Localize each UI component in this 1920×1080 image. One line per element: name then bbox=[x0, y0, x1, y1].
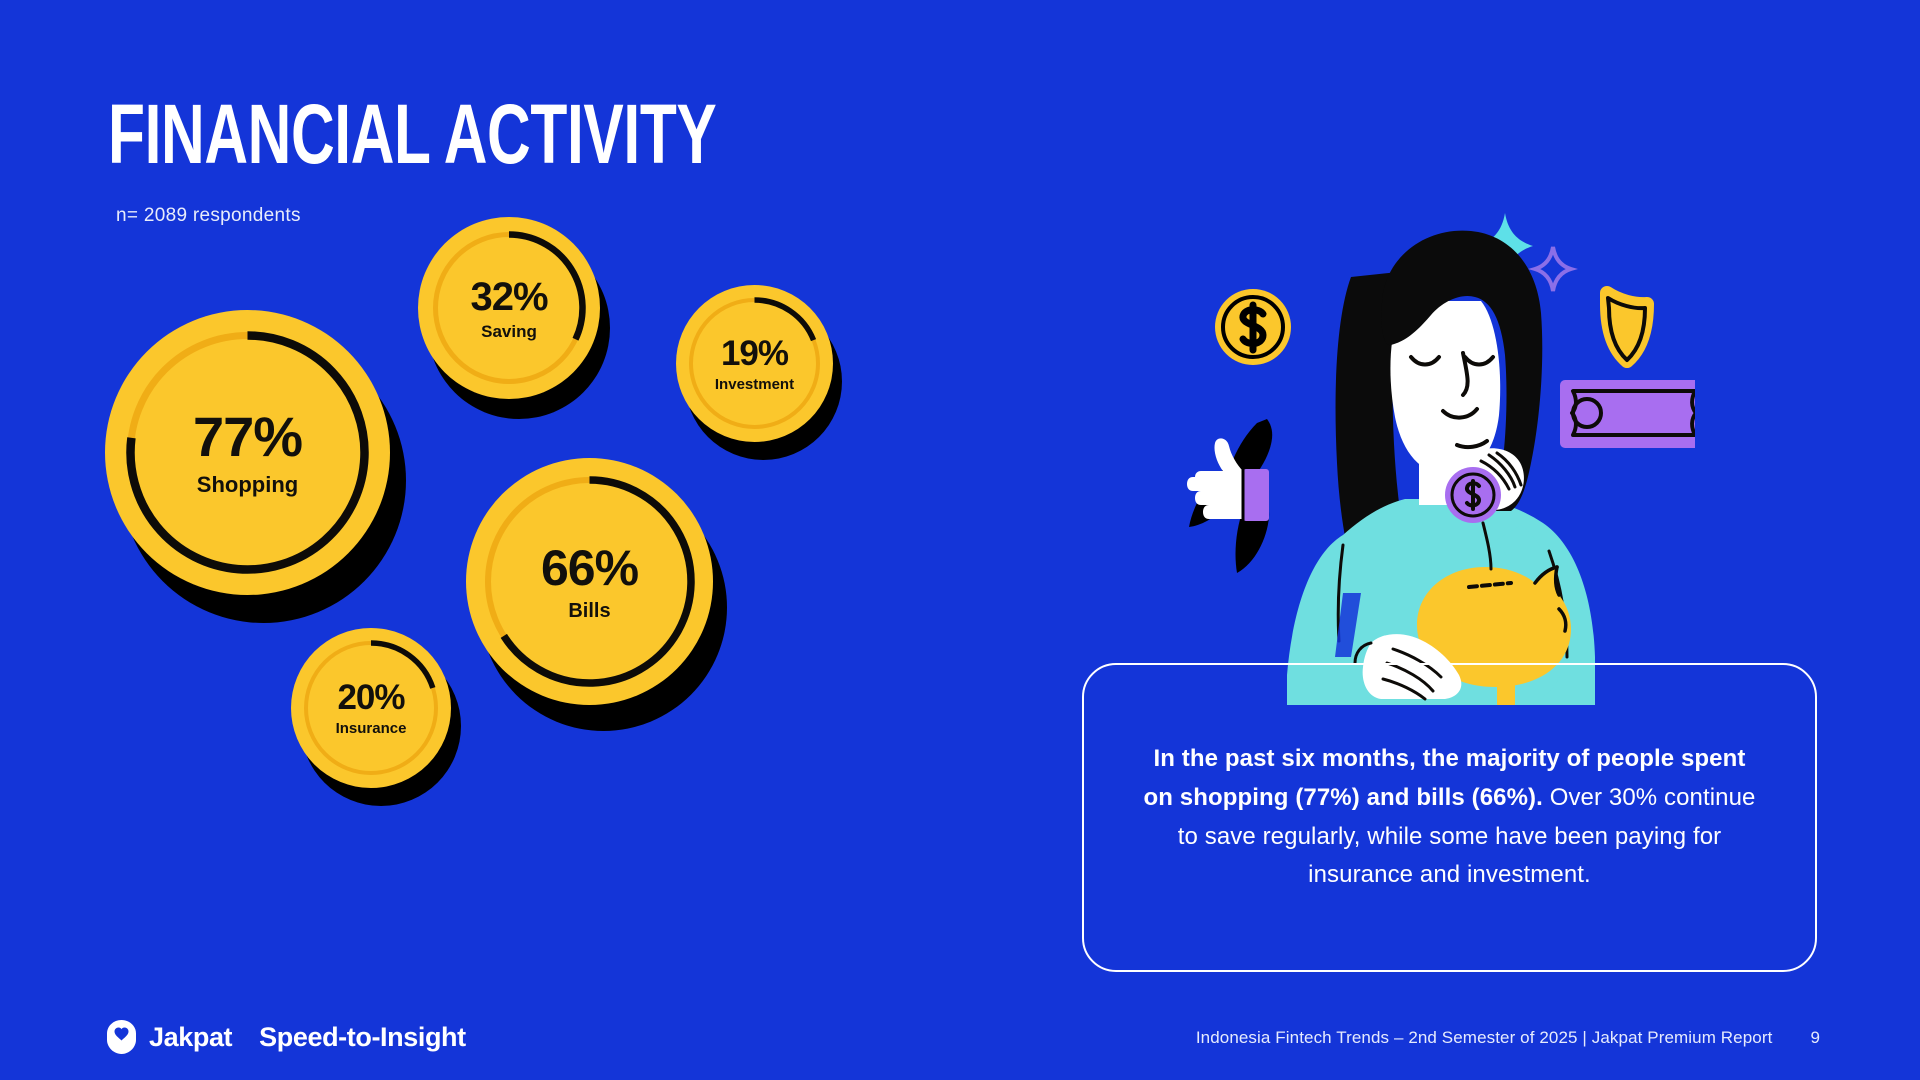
coin-face: 20%Insurance bbox=[291, 628, 451, 788]
coin-saving: 32%Saving bbox=[418, 217, 610, 419]
coin-bills: 66%Bills bbox=[466, 458, 727, 731]
coin-investment: 19%Investment bbox=[676, 285, 842, 460]
footer-brand: Jakpat Speed-to-Insight bbox=[107, 1020, 466, 1054]
coin-percent-value: 77% bbox=[193, 409, 302, 465]
page-number: 9 bbox=[1810, 1028, 1820, 1048]
report-title: Indonesia Fintech Trends – 2nd Semester … bbox=[1196, 1028, 1773, 1048]
coin-category-label: Investment bbox=[715, 377, 794, 392]
coin-category-label: Insurance bbox=[336, 721, 407, 736]
coin-face: 32%Saving bbox=[418, 217, 600, 399]
purple-banknote-icon bbox=[1560, 380, 1695, 448]
coin-face: 19%Investment bbox=[676, 285, 833, 442]
coin-label-group: 19%Investment bbox=[715, 336, 794, 392]
coin-insurance: 20%Insurance bbox=[291, 628, 461, 806]
respondents-subtitle: n= 2089 respondents bbox=[116, 205, 301, 227]
slide-root: FINANCIAL ACTIVITY n= 2089 respondents 7… bbox=[0, 0, 1920, 1080]
coin-label-group: 77%Shopping bbox=[193, 409, 302, 496]
coin-percent-value: 20% bbox=[337, 680, 404, 715]
coin-percent-value: 19% bbox=[721, 336, 788, 371]
brand-tagline: Speed-to-Insight bbox=[259, 1022, 466, 1053]
purple-sparkle-icon bbox=[1535, 247, 1571, 291]
coin-shopping: 77%Shopping bbox=[105, 310, 406, 623]
brand-name: Jakpat bbox=[149, 1022, 232, 1053]
coin-percent-value: 32% bbox=[470, 277, 547, 317]
page-title: FINANCIAL ACTIVITY bbox=[108, 92, 716, 176]
coin-category-label: Saving bbox=[481, 323, 537, 340]
purple-dollar-coin-icon bbox=[1445, 467, 1501, 523]
coin-label-group: 66%Bills bbox=[541, 543, 638, 621]
coin-percent-value: 66% bbox=[541, 543, 638, 593]
footer-meta: Indonesia Fintech Trends – 2nd Semester … bbox=[1196, 1028, 1820, 1048]
coin-category-label: Shopping bbox=[197, 474, 298, 496]
jakpat-logo-icon bbox=[107, 1020, 136, 1054]
coin-category-label: Bills bbox=[568, 601, 610, 621]
insight-text: In the past six months, the majority of … bbox=[1140, 740, 1759, 896]
coin-face: 77%Shopping bbox=[105, 310, 390, 595]
gold-dollar-coin-icon bbox=[1215, 289, 1291, 365]
coin-label-group: 20%Insurance bbox=[336, 680, 407, 736]
coin-face: 66%Bills bbox=[466, 458, 713, 705]
yellow-shield-icon bbox=[1607, 293, 1647, 361]
savings-illustration bbox=[1175, 205, 1695, 705]
coin-label-group: 32%Saving bbox=[470, 277, 547, 340]
insight-callout: In the past six months, the majority of … bbox=[1082, 663, 1817, 972]
